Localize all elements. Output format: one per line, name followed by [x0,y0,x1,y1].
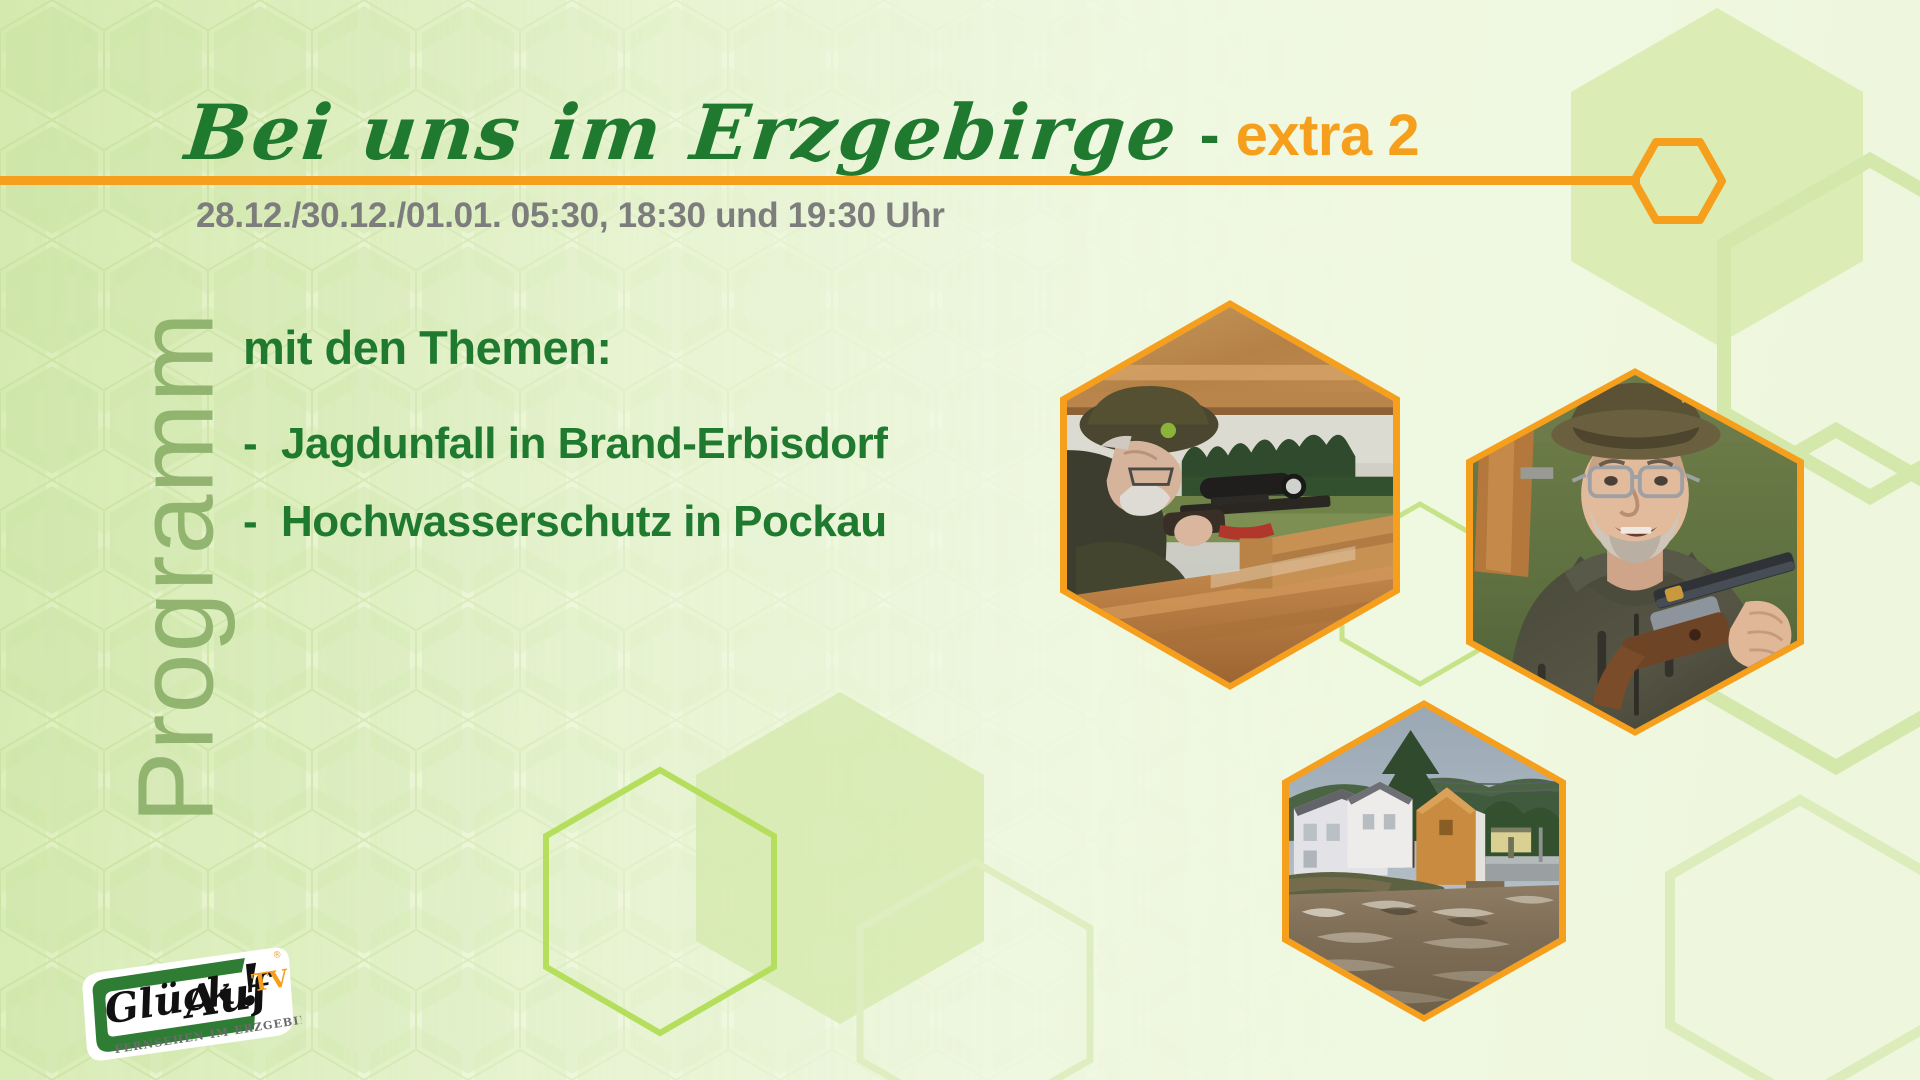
show-title-dash: - [1178,100,1236,169]
photo-clip [1289,707,1559,1015]
hunter-portrait-photo [1466,368,1804,736]
photo-clip [1067,307,1393,683]
topics-heading: mit den Themen: [243,320,887,375]
broadcast-slate: Bei uns im Erzgebirge - extra 2 28.12./3… [0,0,1920,1080]
bullet-dash-icon: - [243,497,281,547]
flood-river-photo [1282,700,1566,1022]
topic-label: Jagdunfall in Brand-Erbisdorf [281,419,887,469]
topics-block: mit den Themen: - Jagdunfall in Brand-Er… [243,320,887,575]
photo-clip [1473,375,1797,729]
show-title-main: Bei uns im Erzgebirge [181,88,1182,177]
header-rule-hexagon-icon [1630,138,1726,224]
sidebar-vertical-label: Programm [113,188,238,948]
topic-label: Hochwasserschutz in Pockau [281,497,887,547]
list-item: - Jagdunfall in Brand-Erbisdorf [243,419,887,469]
bullet-dash-icon: - [243,419,281,469]
logo-registered-mark: ® [272,950,282,961]
hunter-in-hide-photo [1060,300,1400,690]
logo-tv-mark: TV [250,963,291,997]
list-item: - Hochwasserschutz in Pockau [243,497,887,547]
header-rule [0,176,1640,185]
show-title-extra: extra 2 [1236,102,1420,169]
show-title: Bei uns im Erzgebirge - extra 2 [186,88,1419,177]
broadcast-times: 28.12./30.12./01.01. 05:30, 18:30 und 19… [196,196,945,236]
glueckauf-tv-logo: Glück Auf ! TV ® FERNSEHEN IM ERZGEBIRGE [75,944,304,1065]
